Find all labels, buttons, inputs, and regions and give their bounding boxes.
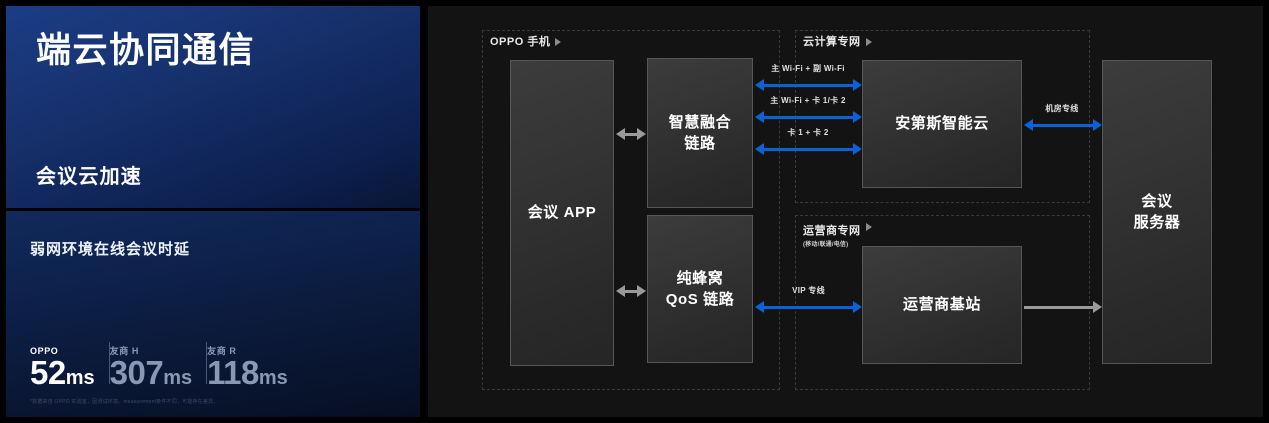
arrow-label-wifi-dual: 主 Wi-Fi + 副 Wi-Fi [754,63,862,74]
card-meeting-server[interactable]: 会议 服务器 [1102,60,1212,364]
arrowhead-left-icon [755,301,764,313]
group-label-oppo-phone: OPPO 手机 [490,36,561,49]
arrow-label-datacenter-line: 机房专线 [1022,103,1102,114]
card-fusion-link[interactable]: 智慧融合 链路 [647,58,753,208]
slide-canvas: 端云协同通信 会议云加速 弱网环境在线会议时延 OPPO 52ms 友商 H 3… [0,0,1269,423]
arrow-bar [625,290,637,293]
group-label-text: 运营商专网 [803,225,861,237]
arrowhead-right-icon [853,143,862,155]
arrowhead-right-icon [637,128,646,140]
arrow-app-to-fusion [616,128,646,140]
arrowhead-right-icon [1093,119,1102,131]
group-label-text: 云计算专网 [803,36,861,49]
group-label-block: 运营商专网 (移动/联通/电信) [803,221,861,248]
arrow-sim-dual [755,143,862,155]
arrow-label-vip-line: VIP 专线 [755,285,862,296]
card-meeting-app[interactable]: 会议 APP [510,60,614,366]
arrow-wifi-sim [755,111,862,123]
architecture-diagram: OPPO 手机 云计算专网 运营商专网 (移动/联通/电信) 会议 APP 智慧… [428,6,1263,417]
arrowhead-right-icon [1093,301,1102,313]
group-label-cloud-network: 云计算专网 [803,36,872,49]
card-andes-cloud[interactable]: 安第斯智能云 [862,60,1022,188]
arrowhead-left-icon [616,128,625,140]
caret-right-icon [555,38,561,46]
metric-unit: ms [66,367,95,389]
footnote-disclaimer: *数据来自 OPPO 实验室，因测试环境、measurement条件不同，可能存… [30,398,219,405]
subtitle: 会议云加速 [36,160,142,189]
metric-unit: ms [163,367,192,389]
arrowhead-left-icon [755,143,764,155]
title-panel: 端云协同通信 会议云加速 [6,6,420,208]
arrowhead-right-icon [853,301,862,313]
metric-value: 307ms [110,358,192,388]
page-title: 端云协同通信 [36,33,255,68]
arrow-bar [764,116,853,119]
metric-rival-r: 友商 R 118ms [207,347,302,388]
caret-right-icon [866,38,872,46]
card-carrier-base-station[interactable]: 运营商基站 [862,246,1022,364]
arrow-bar [1033,124,1093,127]
latency-metrics: OPPO 52ms 友商 H 307ms 友商 R 118ms [30,342,302,388]
metric-value: 52ms [30,358,95,388]
arrow-wifi-dual [755,79,862,91]
metrics-heading: 弱网环境在线会议时延 [30,238,190,259]
metric-rival-h: 友商 H 307ms [110,347,206,388]
arrow-label-sim-dual: 卡 1 + 卡 2 [754,127,862,138]
group-label-carrier-network: 运营商专网 (移动/联通/电信) [803,221,872,248]
arrow-bar [625,133,637,136]
caret-right-icon [866,223,872,231]
metric-value: 118ms [207,358,288,388]
arrowhead-left-icon [1024,119,1033,131]
arrow-app-to-cellular [616,285,646,297]
arrow-bar [764,148,853,151]
arrow-base-station-to-server [1024,301,1102,313]
arrow-bar [764,306,853,309]
arrow-datacenter-line [1024,119,1102,131]
arrowhead-right-icon [637,285,646,297]
arrowhead-right-icon [853,111,862,123]
group-label-subtext: (移动/联通/电信) [803,239,861,248]
arrowhead-left-icon [616,285,625,297]
arrow-bar [764,84,853,87]
metric-oppo: OPPO 52ms [30,347,109,388]
metric-unit: ms [259,367,288,389]
arrowhead-right-icon [853,79,862,91]
arrow-vip-line [755,301,862,313]
arrowhead-left-icon [755,79,764,91]
arrow-label-wifi-sim: 主 Wi-Fi + 卡 1/卡 2 [754,95,862,106]
arrow-bar [1024,306,1093,309]
group-label-text: OPPO 手机 [490,36,550,49]
arrowhead-left-icon [755,111,764,123]
card-cellular-qos-link[interactable]: 纯蜂窝 QoS 链路 [647,215,753,363]
